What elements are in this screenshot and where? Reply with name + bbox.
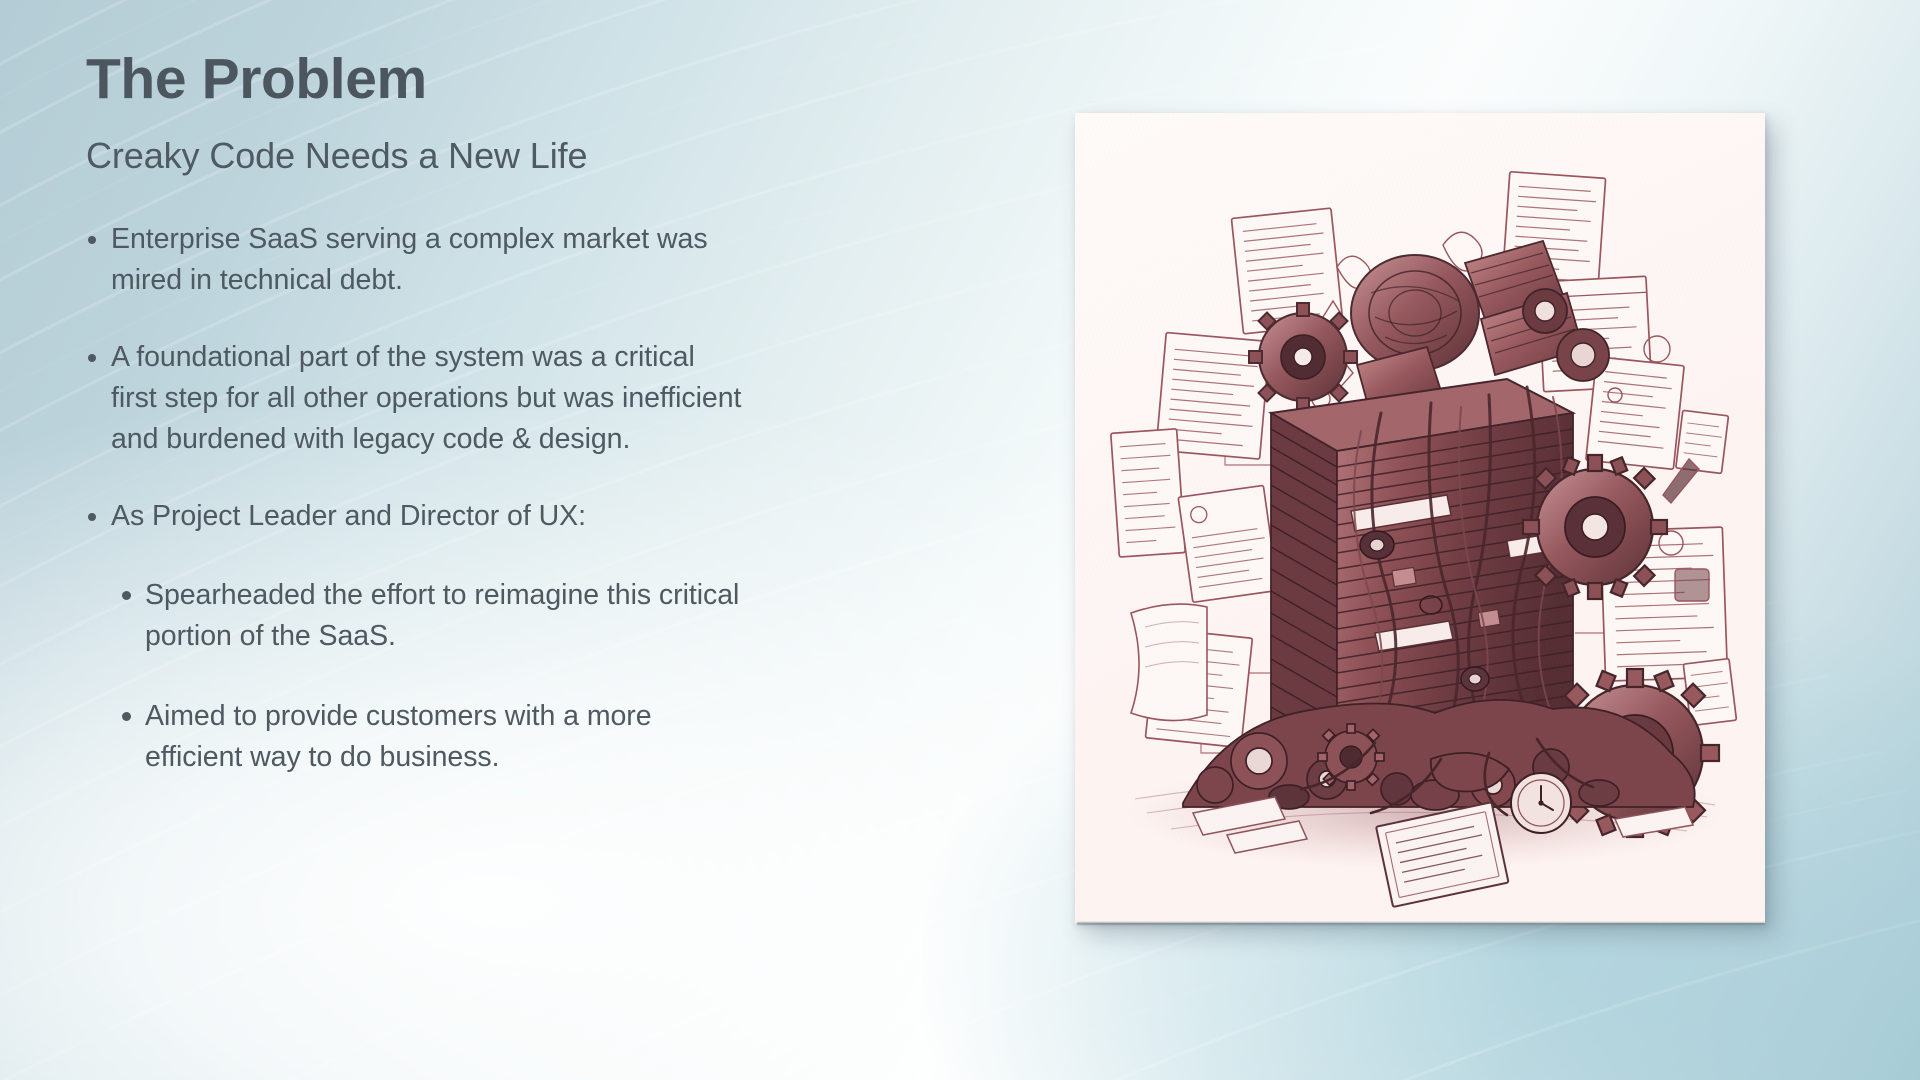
- page-title: The Problem: [86, 44, 746, 110]
- slide-illustration: [1075, 113, 1765, 923]
- list-item: Spearheaded the effort to reimagine this…: [86, 575, 746, 658]
- illustration-bottom-edge: [1077, 922, 1765, 925]
- slide-text-column: The Problem Creaky Code Needs a New Life…: [86, 44, 746, 816]
- presentation-slide: The Problem Creaky Code Needs a New Life…: [0, 0, 1920, 1080]
- bullet-dot-icon: [88, 513, 96, 521]
- bullet-list: Enterprise SaaS serving a complex market…: [86, 219, 746, 778]
- page-subtitle: Creaky Code Needs a New Life: [86, 134, 746, 177]
- bullet-dot-icon: [88, 354, 96, 362]
- bullet-dot-icon: [122, 591, 131, 600]
- illustration-reflection: [1075, 925, 1765, 1080]
- illustration-card: [1075, 113, 1765, 923]
- list-item-text: Enterprise SaaS serving a complex market…: [111, 223, 708, 296]
- bullet-dot-icon: [122, 712, 131, 721]
- list-item: Aimed to provide customers with a more e…: [86, 696, 746, 779]
- list-item: A foundational part of the system was a …: [86, 337, 746, 461]
- bullet-dot-icon: [88, 236, 96, 244]
- list-item-text: As Project Leader and Director of UX:: [111, 500, 586, 532]
- list-item-text: Aimed to provide customers with a more e…: [145, 700, 652, 773]
- list-item: Enterprise SaaS serving a complex market…: [86, 219, 746, 302]
- list-item: As Project Leader and Director of UX:: [86, 496, 746, 537]
- list-item-text: Spearheaded the effort to reimagine this…: [145, 579, 739, 652]
- list-item-text: A foundational part of the system was a …: [111, 341, 741, 456]
